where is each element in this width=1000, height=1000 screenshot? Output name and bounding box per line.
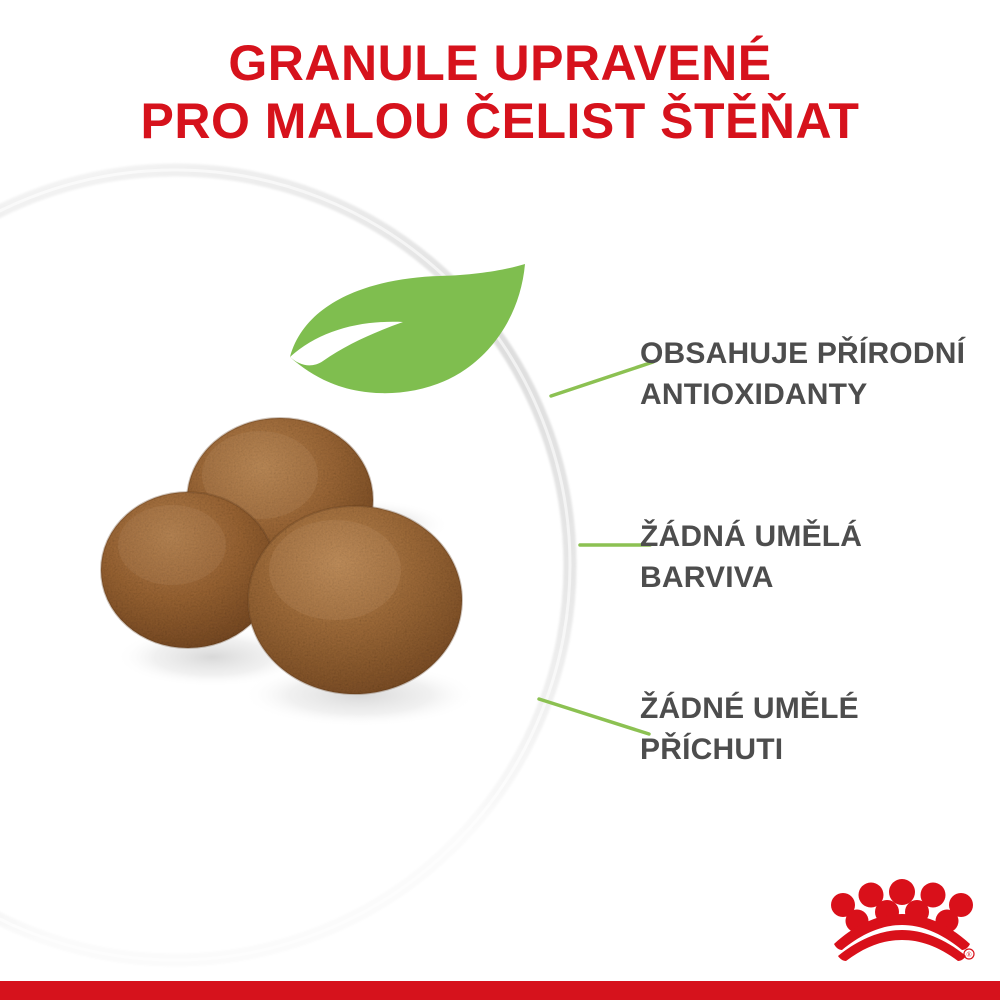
leaf-icon	[285, 262, 535, 397]
feature-label-line-2: PŘÍCHUTI	[640, 729, 859, 770]
kibble-front	[248, 506, 462, 694]
feature-natural-antioxidants: OBSAHUJE PŘÍRODNÍ ANTIOXIDANTY	[640, 333, 965, 415]
page-title-line-1: GRANULE UPRAVENÉ	[0, 34, 1000, 92]
feature-label-line-2: BARVIVA	[640, 557, 862, 598]
kibble-left	[101, 492, 275, 648]
feature-no-artificial-colors: ŽÁDNÁ UMĚLÁ BARVIVA	[640, 516, 862, 598]
feature-label: ŽÁDNÉ UMĚLÉ PŘÍCHUTI	[640, 688, 859, 770]
kibble-pieces	[60, 395, 500, 735]
royal-canin-crown-logo: ®	[828, 878, 976, 964]
page-title-line-2: PRO MALOU ČELIST ŠTĚŇAT	[0, 92, 1000, 150]
feature-label: ŽÁDNÁ UMĚLÁ BARVIVA	[640, 516, 862, 598]
registered-mark-glyph: ®	[966, 951, 972, 959]
page-title: GRANULE UPRAVENÉ PRO MALOU ČELIST ŠTĚŇAT	[0, 34, 1000, 150]
feature-label-line-1: OBSAHUJE PŘÍRODNÍ	[640, 333, 965, 374]
feature-label: OBSAHUJE PŘÍRODNÍ ANTIOXIDANTY	[640, 333, 965, 415]
feature-label-line-1: ŽÁDNÉ UMĚLÉ	[640, 688, 859, 729]
crown-dot	[889, 879, 915, 905]
feature-no-artificial-flavors: ŽÁDNÉ UMĚLÉ PŘÍCHUTI	[640, 688, 859, 770]
product-feature-panel: GRANULE UPRAVENÉ PRO MALOU ČELIST ŠTĚŇAT	[0, 0, 1000, 1000]
feature-label-line-1: ŽÁDNÁ UMĚLÁ	[640, 516, 862, 557]
connector-line-3	[536, 694, 652, 738]
bottom-accent-bar	[0, 981, 1000, 1000]
feature-label-line-2: ANTIOXIDANTY	[640, 374, 965, 415]
